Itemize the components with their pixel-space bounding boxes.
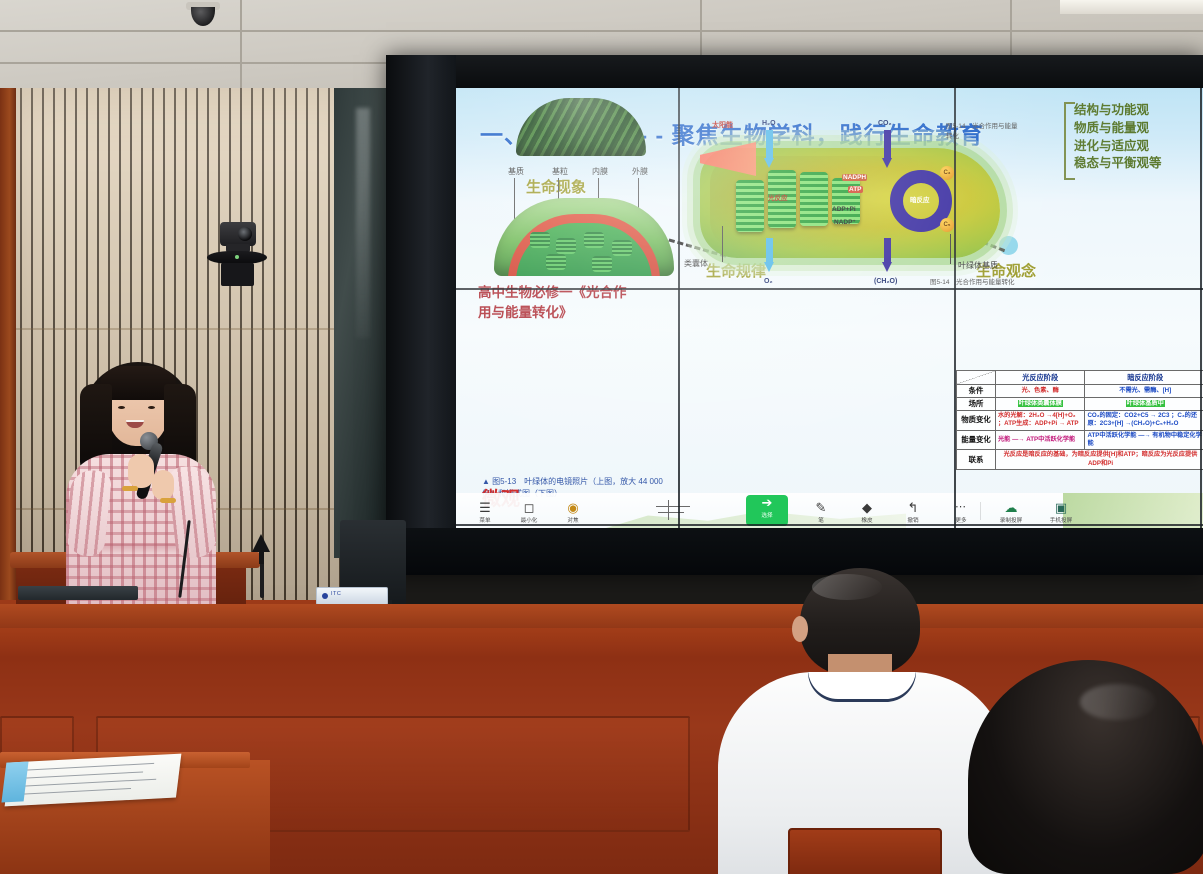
- ceiling-light: [1060, 0, 1203, 14]
- diagram-input-water: H₂O: [762, 120, 776, 127]
- wallpaper-antenna: [656, 500, 716, 522]
- concept-item-2: 物质与能量观: [1074, 120, 1162, 138]
- bezel-top: [386, 55, 1203, 88]
- toolbar-select-tool[interactable]: ➔ 选择: [746, 495, 788, 526]
- table-row-label-condition: 条件: [957, 385, 996, 398]
- toolbar-menu-button[interactable]: ☰ 菜单: [464, 500, 506, 524]
- nameplate: ITC: [316, 587, 388, 605]
- toolbar-undo-tool[interactable]: ↰ 撤销: [892, 500, 934, 524]
- concept-item-1: 结构与功能观: [1074, 102, 1162, 120]
- table-cell-site-light: 叶绿体类囊体膜: [1018, 400, 1063, 407]
- screen-seam-vertical: [1200, 88, 1202, 528]
- concept-item-4: 稳态与平衡观等: [1074, 155, 1162, 173]
- screen-seam-vertical: [678, 88, 680, 528]
- table-cell-condition-light: 光、色素、酶: [996, 385, 1085, 398]
- toolbar-minimize-label: 最小化: [508, 516, 550, 524]
- diagram-label-atp: ATP: [848, 186, 863, 193]
- toolbar-more-tool[interactable]: ⋯ 更多: [940, 500, 982, 524]
- audience-chair: [788, 828, 942, 874]
- minimize-icon: ◻: [508, 500, 550, 515]
- flow-node-label-1: 生命现象: [526, 176, 586, 197]
- table-cell-matter-light: 水的光解：2H₂O →4[H]+O₂ ；ATP生成：ADP+Pi → ATP: [996, 410, 1085, 430]
- pen-icon: ✎: [800, 500, 842, 515]
- screen-seam-vertical: [954, 88, 956, 528]
- nameplate-text: ITC: [331, 591, 341, 597]
- micrograph-label-4: 外膜: [632, 166, 648, 177]
- audience-member-woman: [968, 660, 1203, 874]
- chloroplast-model: [494, 198, 674, 276]
- ptz-camera-icon: [207, 222, 267, 290]
- photosynthesis-comparison-table: 光反应阶段 暗反应阶段 条件 光、色素、酶 不需光、需酶、[H] 场所 叶绿体类…: [956, 370, 1203, 470]
- toolbar-phone-cast[interactable]: ▣ 手机投屏: [1040, 500, 1082, 524]
- diagram-label-nadp: NADP⁺: [834, 218, 856, 226]
- arrow-sugar-out: [882, 238, 893, 278]
- toolbar-spotlight-label: 对焦: [552, 516, 594, 524]
- diagram-input-co2: CO₂: [878, 120, 892, 127]
- table-row-label-matter: 物质变化: [957, 410, 996, 430]
- wallpaper-grass: [1063, 493, 1203, 528]
- table-row: 场所 叶绿体类囊体膜 叶绿体基质中: [957, 397, 1203, 410]
- toolbar-menu-label: 菜单: [464, 516, 506, 524]
- more-icon: ⋯: [940, 500, 982, 515]
- phone-cast-icon: ▣: [1040, 500, 1082, 515]
- diagram-label-dark-reaction: 暗反应: [910, 194, 930, 204]
- undo-icon: ↰: [892, 500, 934, 515]
- arrow-co2-in: [882, 130, 893, 170]
- toolbar-spotlight-button[interactable]: ◉ 对焦: [552, 500, 594, 524]
- table-col-light: 光反应阶段: [996, 371, 1085, 385]
- diagram-output-sugar: (CH₂O): [874, 278, 897, 285]
- table-cell-matter-dark: CO₂的固定：CO2+C5 → 2C3 ；C₃的还原：2C3+[H] →(CH₂…: [1085, 410, 1203, 430]
- screen-seam-horizontal: [456, 524, 1203, 526]
- diagram-pointer-stroma: 叶绿体基质: [958, 260, 998, 271]
- micrograph-label-3: 内膜: [592, 166, 608, 177]
- concept-item-3: 进化与适应观: [1074, 138, 1162, 156]
- photosynthesis-diagram: C₃ C₅ 光反应 暗反应 NADPH ATP ADP+Pi NADP⁺ 太阳能…: [682, 118, 1022, 288]
- diagram-label-adp-pi: ADP+Pi: [832, 206, 856, 213]
- toolbar-more-label: 更多: [940, 516, 982, 524]
- toolbar-undo-label: 撤销: [892, 516, 934, 524]
- presenter: [60, 358, 220, 610]
- dome-camera-icon: [186, 2, 220, 28]
- table-row: 物质变化 水的光解：2H₂O →4[H]+O₂ ；ATP生成：ADP+Pi → …: [957, 410, 1203, 430]
- bezel-left: [386, 55, 456, 575]
- table-col-dark: 暗反应阶段: [1085, 371, 1203, 385]
- table-cell-link: 光反应是暗反应的基础，为暗反应提供[H]和ATP；暗反应为光反应提供ADP和Pi: [996, 450, 1203, 470]
- toolbar-minimize-button[interactable]: ◻ 最小化: [508, 500, 550, 524]
- toolbar-record-screen[interactable]: ☁ 录制投屏: [990, 500, 1032, 524]
- table-row-label-energy: 能量变化: [957, 430, 996, 450]
- eraser-icon: ◆: [846, 500, 888, 515]
- diagram-output-o2: O₂: [764, 278, 773, 285]
- record-screen-icon: ☁: [990, 500, 1032, 515]
- diagram-input-solar: 太阳能: [712, 120, 733, 130]
- toolbar-eraser-label: 橡皮: [846, 516, 888, 524]
- table-row: 能量变化 光能 —→ ATP中活跃化学能 ATP中活跃化学能 —→ 有机物中稳定…: [957, 430, 1203, 450]
- printed-handout: [5, 754, 182, 807]
- diagram-label-light-reaction: 光反应: [768, 192, 788, 202]
- arrow-o2-out: [764, 238, 775, 278]
- diagram-figure-note: 图5-14 光合作用与能量转化: [930, 276, 1015, 286]
- screen-toolbar[interactable]: ☰ 菜单 ◻ 最小化 ◉ 对焦 ➔ 选择 ✎ 笔 ◆ 橡皮: [456, 493, 1203, 528]
- toolbar-cast-label: 手机投屏: [1040, 516, 1082, 524]
- table-cell-energy-dark: ATP中活跃化学能 —→ 有机物中稳定化学能: [1085, 430, 1203, 450]
- toolbar-pen-label: 笔: [800, 516, 842, 524]
- conference-room-photo: 一、理念篇 - - - - 聚焦生物学科，践行生命教育 生命现象 生命规律 生物…: [0, 0, 1203, 874]
- microphone-holder: [252, 534, 272, 564]
- screen-seam-horizontal: [456, 288, 1203, 290]
- diagram-label-nadph: NADPH: [842, 174, 867, 181]
- table-row: 条件 光、色素、酶 不需光、需酶、[H]: [957, 385, 1203, 398]
- table-row-label-site: 场所: [957, 397, 996, 410]
- presentation-screen[interactable]: 一、理念篇 - - - - 聚焦生物学科，践行生命教育 生命现象 生命规律 生物…: [456, 88, 1203, 528]
- micrograph-label-1: 基质: [508, 166, 524, 177]
- diagram-pointer-thylakoid: 类囊体: [684, 258, 708, 269]
- toolbar-eraser-tool[interactable]: ◆ 橡皮: [846, 500, 888, 524]
- concept-list: 结构与功能观 物质与能量观 进化与适应观 稳态与平衡观等: [1074, 102, 1162, 173]
- toolbar-record-label: 录制投屏: [990, 516, 1032, 524]
- micrograph-label-2: 基粒: [552, 166, 568, 177]
- table-cell-site-dark: 叶绿体基质中: [1126, 400, 1165, 407]
- table-corner-cell: [957, 371, 996, 385]
- podium-control-panel: [18, 586, 138, 600]
- menu-icon: ☰: [464, 500, 506, 515]
- diagram-top-note: 图5-14 光合作用与能量转化: [946, 120, 1022, 140]
- table-header-row: 光反应阶段 暗反应阶段: [957, 371, 1203, 385]
- table-row: 联系 光反应是暗反应的基础，为暗反应提供[H]和ATP；暗反应为光反应提供ADP…: [957, 450, 1203, 470]
- toolbar-pen-tool[interactable]: ✎ 笔: [800, 500, 842, 524]
- table-cell-condition-dark: 不需光、需酶、[H]: [1085, 385, 1203, 398]
- toolbar-select-label: 选择: [746, 511, 788, 519]
- table-cell-energy-light: 光能 —→ ATP中活跃化学能: [996, 430, 1085, 450]
- cursor-icon: ➔: [746, 495, 788, 510]
- micrograph-highlight: [516, 98, 646, 156]
- spotlight-icon: ◉: [552, 500, 594, 515]
- table-row-label-link: 联系: [957, 450, 996, 470]
- arrow-water-in: [764, 130, 775, 170]
